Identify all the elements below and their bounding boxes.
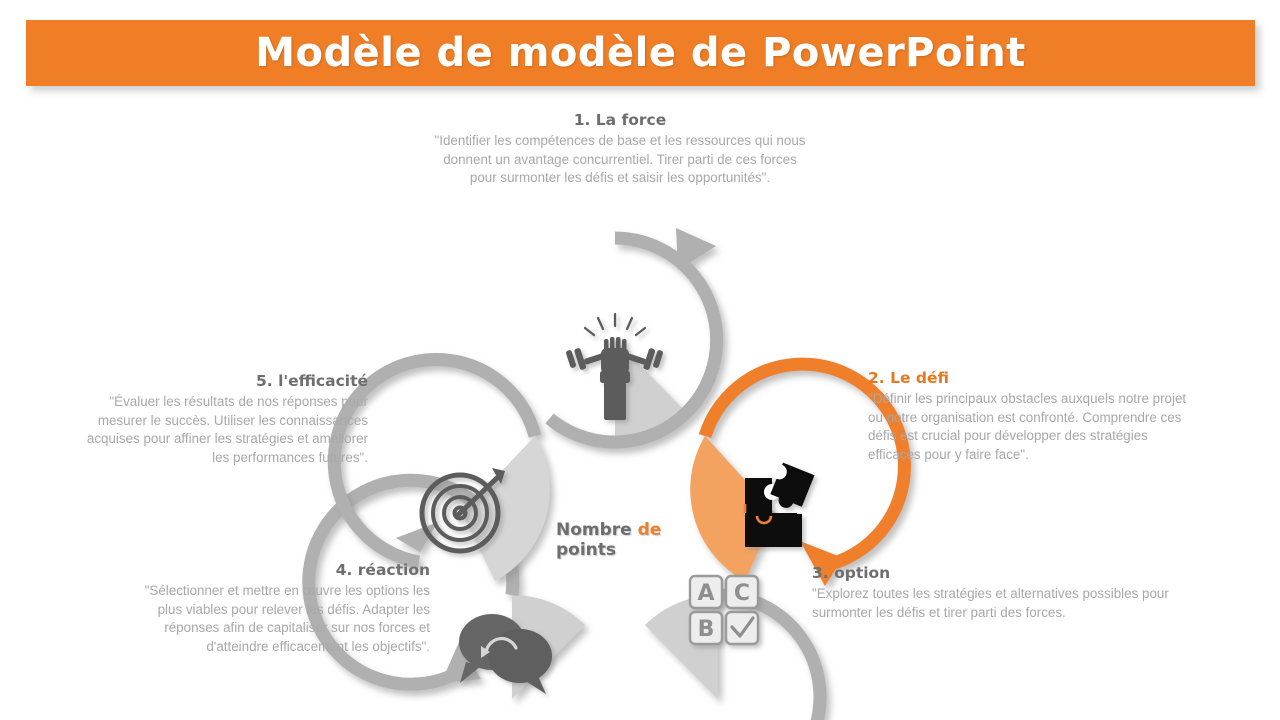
node-4-heading: 4. réaction (140, 560, 430, 581)
node-5-text-block: 5. l'efficacité "Évaluer les résultats d… (68, 371, 368, 468)
node-1-arrowhead (676, 228, 716, 270)
node-2-body: "Définir les principaux obstacles auxque… (868, 390, 1198, 465)
center-label-accent: de (638, 520, 662, 540)
node-3-text-block: 3. option "Explorez toutes les stratégie… (812, 563, 1177, 622)
puzzle-piece-icon (745, 460, 815, 547)
slide-title-bar: Modèle de modèle de PowerPoint (26, 20, 1255, 86)
node-1-heading: 1. La force (430, 110, 810, 131)
node-2-text-block: 2. Le défi "Définir les principaux obsta… (868, 368, 1198, 465)
svg-text:C: C (734, 581, 750, 606)
slide-canvas: Modèle de modèle de PowerPoint (0, 0, 1280, 720)
node-3-wedge (645, 595, 718, 699)
center-label: Nombre de points (556, 520, 706, 560)
svg-text:A: A (697, 581, 714, 606)
node-4-body: "Sélectionner et mettre en œuvre les opt… (140, 582, 430, 657)
center-label-part1: Nombre (556, 520, 632, 540)
node-2-heading: 2. Le défi (868, 368, 1198, 389)
node-1-text-block: 1. La force "Identifier les compétences … (430, 110, 810, 188)
node-5-heading: 5. l'efficacité (68, 371, 368, 392)
page-title: Modèle de modèle de PowerPoint (255, 33, 1026, 73)
node-5-body: "Évaluer les résultats de nos réponses p… (68, 393, 368, 468)
center-label-part2: points (556, 540, 616, 560)
node-1-strength[interactable] (550, 228, 717, 444)
node-3-heading: 3. option (812, 563, 1177, 584)
node-4-text-block: 4. réaction "Sélectionner et mettre en œ… (140, 560, 430, 657)
svg-text:B: B (698, 617, 715, 642)
node-1-body: "Identifier les compétences de base et l… (430, 132, 810, 188)
node-3-body: "Explorez toutes les stratégies et alter… (812, 585, 1177, 623)
